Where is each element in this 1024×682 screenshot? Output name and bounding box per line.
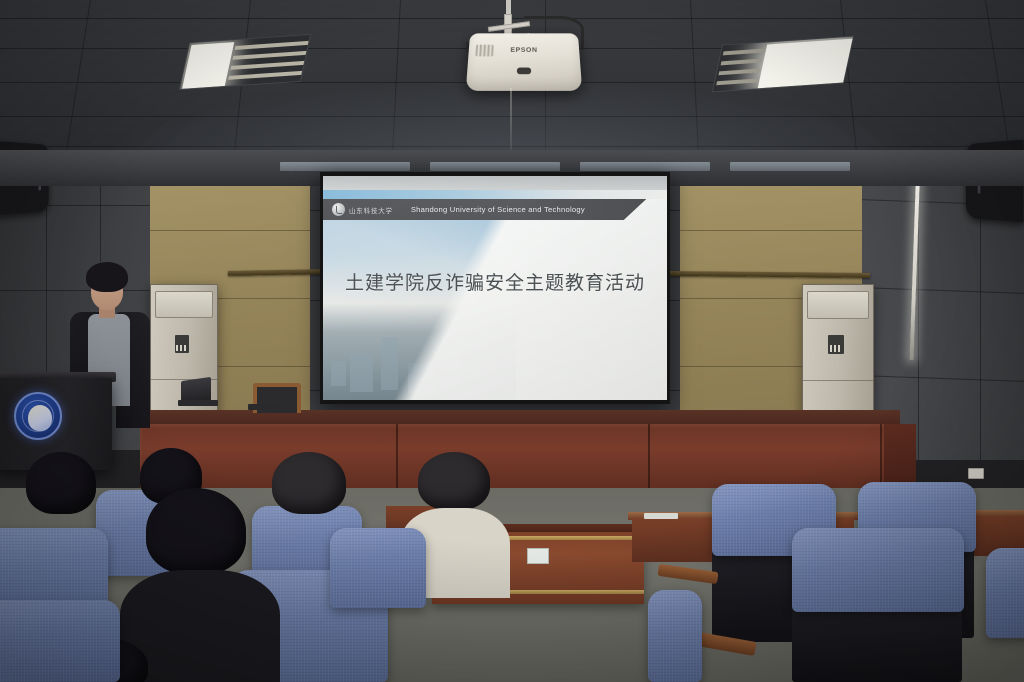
projection-screen: 山东科技大学 Shandong University of Science an… <box>320 172 670 404</box>
stage-desk-item <box>248 404 278 410</box>
seat-occupied-row1-4[interactable] <box>330 528 426 608</box>
desk-label-plate <box>527 548 549 564</box>
slide-header-banner: 山东科技大学 Shandong University of Science an… <box>323 199 646 220</box>
seat-empty-right-4[interactable] <box>648 590 702 682</box>
audience-head-4 <box>146 488 246 574</box>
slide-top-band <box>323 190 667 199</box>
projector-brand-label: EPSON <box>510 47 537 53</box>
laptop-base <box>178 400 218 406</box>
wall-outlet-right[interactable] <box>968 468 984 479</box>
university-logo-icon <box>332 203 345 216</box>
seat-occupied-row2-2[interactable] <box>0 600 120 682</box>
projector-icon: EPSON <box>466 33 583 91</box>
projector-lens <box>517 68 531 75</box>
seat-empty-right-3[interactable] <box>792 528 964 612</box>
slide-main-title: 土建学院反诈骗安全主题教育活动 <box>323 268 667 295</box>
projector-vent <box>475 45 493 57</box>
audience-head-2 <box>26 452 96 514</box>
ceiling-light-left <box>179 34 311 90</box>
slide-diagonal-overlay <box>323 190 667 400</box>
slide-university-name-en: Shandong University of Science and Techn… <box>411 205 585 214</box>
audience-head-3 <box>272 452 346 514</box>
seat-empty-far-right[interactable] <box>986 548 1024 638</box>
lecture-hall-photo: EPSON <box>0 0 1024 682</box>
presentation-slide: 山东科技大学 Shandong University of Science an… <box>323 190 667 400</box>
university-emblem-icon <box>14 392 62 440</box>
desk-paper-right <box>644 513 678 519</box>
ceiling-light-right <box>712 36 855 93</box>
slide-logo-chinese-name: 山东科技大学 <box>349 205 393 215</box>
air-conditioner-cabinet-right <box>802 284 874 426</box>
audience-head-6 <box>418 452 490 510</box>
